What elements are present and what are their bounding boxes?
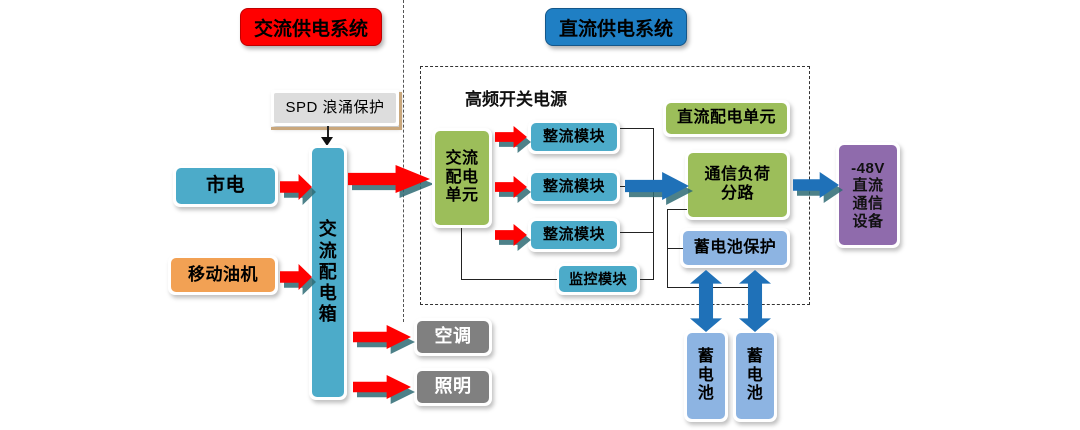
battery-protection[interactable]: 蓄电池保护: [680, 228, 790, 268]
battery-1-line-0: 蓄: [698, 348, 715, 367]
rectifier-3-output-wire: [620, 232, 654, 233]
battery-protection-label: 蓄电池保护: [694, 239, 777, 258]
dc-distribution-unit[interactable]: 直流配电单元: [663, 100, 790, 137]
arrow-comm-load-branch-to-dc-equipment: [793, 172, 839, 198]
battery-protection-left-wire: [667, 248, 683, 249]
spd-surge-protector[interactable]: SPD 浪涌保护: [271, 90, 399, 126]
comm-branch-tap-wire: [667, 209, 687, 210]
ac-distribution-unit-line-1: 配电: [445, 169, 478, 188]
arrow-rectifiers-to-comm-load-branch: [625, 172, 689, 200]
communication-load-branch-line-0: 通信负荷: [704, 166, 770, 185]
arrow-battery-protection-to-battery-2: [739, 270, 771, 332]
arrow-mains-to-ac-box: [280, 174, 312, 200]
arrow-ac-box-to-air-conditioner: [353, 325, 411, 349]
rectifier-module-2[interactable]: 整流模块: [528, 170, 620, 204]
dc-communication-equipment-line-3: 设备: [852, 213, 883, 231]
ac-distribution-box-line-0: 交: [319, 219, 338, 240]
monitoring-module[interactable]: 监控模块: [556, 263, 640, 295]
banner-ac-power-system-label: 交流供电系统: [254, 14, 368, 41]
spd-accent-sideline: [399, 92, 402, 130]
lighting-label: 照明: [435, 376, 472, 397]
ac-distribution-unit[interactable]: 交流 配电 单元: [432, 128, 492, 228]
battery-1-line-2: 池: [698, 385, 715, 404]
rectifier-output-bus: [653, 128, 654, 280]
ac-dc-section-divider: [403, 0, 404, 322]
ac-distribution-box-line-2: 配: [319, 262, 338, 283]
battery-2-line-0: 蓄: [747, 348, 764, 367]
rectifier-module-2-label: 整流模块: [543, 178, 605, 196]
ac-distribution-box[interactable]: 交 流 配 电 箱: [309, 145, 347, 400]
arrow-ac-box-to-lighting: [353, 375, 411, 399]
ac-distribution-unit-line-2: 单元: [445, 187, 478, 206]
ac-distribution-unit-line-0: 交流: [445, 150, 478, 169]
air-conditioner-block[interactable]: 空调: [414, 318, 492, 356]
arrow-ac-dist-unit-to-rectifier-2: [495, 176, 527, 198]
diagram-canvas: 交流供电系统 直流供电系统 高频开关电源 SPD 浪涌保护 市电 移动油机 交 …: [0, 0, 1080, 430]
dc-communication-equipment[interactable]: -48V 直流 通信 设备: [836, 142, 900, 248]
lighting-block[interactable]: 照明: [414, 368, 492, 406]
monitor-wire-to-monitor-left: [461, 279, 557, 280]
battery-1-line-1: 电: [698, 367, 715, 386]
dc-communication-equipment-line-0: -48V: [851, 160, 885, 178]
rectifier-module-1-label: 整流模块: [543, 128, 605, 146]
arrow-battery-protection-to-battery-1: [690, 270, 722, 332]
dc-communication-equipment-line-1: 直流: [852, 177, 883, 195]
monitoring-module-label: 监控模块: [569, 271, 627, 288]
monitor-wire-to-bus: [640, 279, 654, 280]
banner-dc-power-system: 直流供电系统: [545, 8, 687, 46]
ac-distribution-box-line-1: 流: [319, 241, 338, 262]
ac-distribution-box-line-3: 电: [319, 283, 338, 304]
communication-load-branch-line-1: 分路: [721, 185, 754, 204]
spd-accent-underline: [271, 127, 402, 130]
spd-surge-protector-label: SPD 浪涌保护: [285, 99, 384, 117]
mobile-generator-block[interactable]: 移动油机: [168, 255, 278, 295]
switching-power-supply-caption: 高频开关电源: [465, 85, 567, 110]
banner-ac-power-system: 交流供电系统: [240, 8, 382, 46]
dc-distribution-unit-label: 直流配电单元: [677, 109, 776, 128]
communication-load-branch[interactable]: 通信负荷 分路: [685, 150, 790, 220]
arrow-generator-to-ac-box: [280, 264, 312, 290]
banner-dc-power-system-label: 直流供电系统: [559, 14, 673, 41]
monitor-wire-from-ac-dist-unit: [461, 228, 462, 280]
ac-distribution-box-line-4: 箱: [319, 304, 338, 325]
mobile-generator-label: 移动油机: [188, 265, 258, 285]
rectifier-module-3[interactable]: 整流模块: [528, 218, 620, 252]
dc-communication-equipment-line-2: 通信: [852, 195, 883, 213]
arrow-ac-box-to-ac-dist-unit: [348, 165, 430, 193]
battery-1[interactable]: 蓄 电 池: [684, 330, 728, 422]
battery-2-line-2: 池: [747, 385, 764, 404]
air-conditioner-label: 空调: [435, 326, 472, 347]
mains-power-block[interactable]: 市电: [173, 165, 278, 207]
rectifier-1-output-wire: [620, 128, 654, 129]
mains-power-label: 市电: [206, 175, 245, 197]
battery-2[interactable]: 蓄 电 池: [733, 330, 777, 422]
arrow-ac-dist-unit-to-rectifier-3: [495, 224, 527, 246]
arrow-ac-dist-unit-to-rectifier-1: [495, 126, 527, 148]
rectifier-module-1[interactable]: 整流模块: [528, 120, 620, 154]
battery-2-line-1: 电: [747, 367, 764, 386]
rectifier-module-3-label: 整流模块: [543, 226, 605, 244]
